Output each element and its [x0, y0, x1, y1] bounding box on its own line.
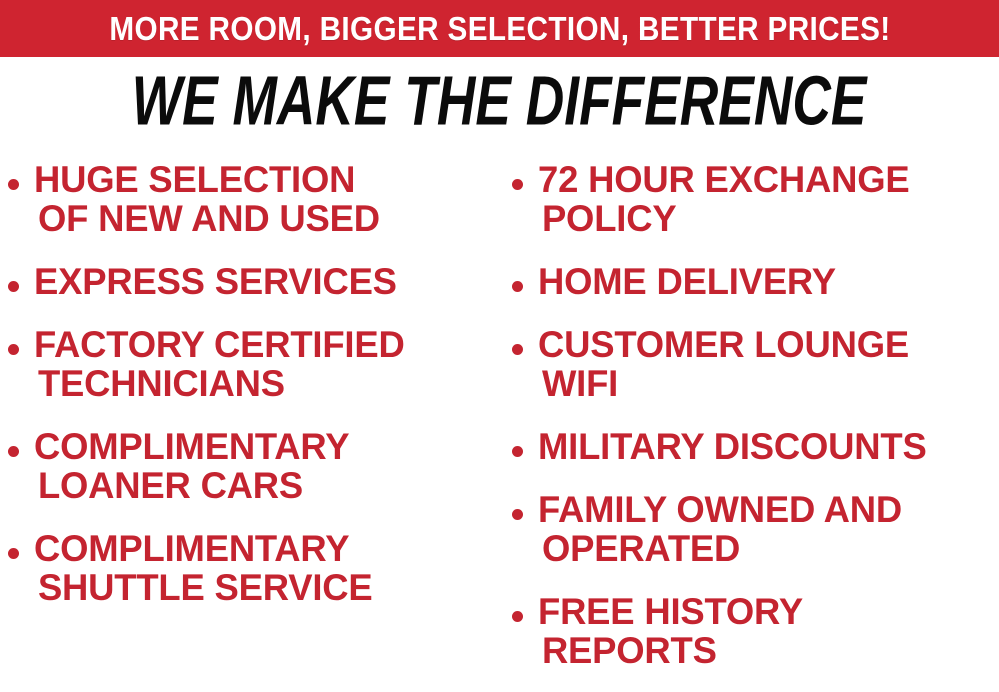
benefit-list-item-label: MILITARY DISCOUNTS [538, 427, 992, 466]
benefit-text-line: HOME DELIVERY [538, 262, 992, 301]
benefit-text-line: HUGE SELECTION [34, 160, 493, 199]
benefit-text-line: SHUTTLE SERVICE [34, 568, 493, 607]
benefit-text-line: POLICY [538, 199, 992, 238]
benefits-column-right: 72 HOUR EXCHANGEPOLICYHOME DELIVERYCUSTO… [512, 160, 999, 692]
benefit-text-line: 72 HOUR EXCHANGE [538, 160, 992, 199]
main-headline: WE MAKE THE DIFFERENCE [132, 67, 867, 136]
benefit-list-item: HOME DELIVERY [512, 262, 999, 301]
benefits-columns: HUGE SELECTIONOF NEW AND USEDEXPRESS SER… [0, 160, 999, 692]
bullet-dot-icon [8, 344, 19, 355]
benefit-list-item-label: 72 HOUR EXCHANGEPOLICY [538, 160, 992, 238]
ribbon-banner: MORE ROOM, BIGGER SELECTION, BETTER PRIC… [0, 0, 999, 57]
promo-banner: MORE ROOM, BIGGER SELECTION, BETTER PRIC… [0, 0, 999, 692]
benefit-text-line: REPORTS [538, 631, 992, 670]
benefit-list-item: MILITARY DISCOUNTS [512, 427, 999, 466]
benefit-list-item-label: COMPLIMENTARYLOANER CARS [34, 427, 493, 505]
benefit-list-item: CUSTOMER LOUNGEWIFI [512, 325, 999, 403]
bullet-dot-icon [8, 548, 19, 559]
bullet-dot-icon [8, 179, 19, 190]
bullet-dot-icon [512, 509, 523, 520]
benefit-list-item: FACTORY CERTIFIEDTECHNICIANS [8, 325, 500, 403]
benefit-list-item: HUGE SELECTIONOF NEW AND USED [8, 160, 500, 238]
benefit-list-item-label: FACTORY CERTIFIEDTECHNICIANS [34, 325, 493, 403]
benefit-text-line: COMPLIMENTARY [34, 529, 493, 568]
benefit-text-line: TECHNICIANS [34, 364, 493, 403]
benefit-text-line: FACTORY CERTIFIED [34, 325, 493, 364]
benefit-list-item-label: EXPRESS SERVICES [34, 262, 493, 301]
benefit-list-item: FAMILY OWNED ANDOPERATED [512, 490, 999, 568]
benefits-column-left: HUGE SELECTIONOF NEW AND USEDEXPRESS SER… [8, 160, 500, 631]
benefit-text-line: COMPLIMENTARY [34, 427, 493, 466]
benefit-text-line: EXPRESS SERVICES [34, 262, 493, 301]
benefit-list-item: 72 HOUR EXCHANGEPOLICY [512, 160, 999, 238]
benefit-list-item-label: CUSTOMER LOUNGEWIFI [538, 325, 992, 403]
benefit-list-item: FREE HISTORYREPORTS [512, 592, 999, 670]
benefit-text-line: OF NEW AND USED [34, 199, 493, 238]
bullet-dot-icon [8, 281, 19, 292]
benefit-list-item-label: HOME DELIVERY [538, 262, 992, 301]
benefit-text-line: LOANER CARS [34, 466, 493, 505]
ribbon-headline-text: MORE ROOM, BIGGER SELECTION, BETTER PRIC… [109, 12, 890, 45]
bullet-dot-icon [512, 281, 523, 292]
benefit-list-item-label: FAMILY OWNED ANDOPERATED [538, 490, 992, 568]
benefit-text-line: MILITARY DISCOUNTS [538, 427, 992, 466]
benefit-text-line: FREE HISTORY [538, 592, 992, 631]
bullet-dot-icon [512, 344, 523, 355]
benefit-text-line: OPERATED [538, 529, 992, 568]
bullet-dot-icon [512, 611, 523, 622]
benefit-list-item-label: FREE HISTORYREPORTS [538, 592, 992, 670]
benefit-list-item-label: HUGE SELECTIONOF NEW AND USED [34, 160, 493, 238]
bullet-dot-icon [512, 179, 523, 190]
bullet-dot-icon [8, 446, 19, 457]
benefit-list-item-label: COMPLIMENTARYSHUTTLE SERVICE [34, 529, 493, 607]
benefit-list-item: EXPRESS SERVICES [8, 262, 500, 301]
bullet-dot-icon [512, 446, 523, 457]
benefit-text-line: FAMILY OWNED AND [538, 490, 992, 529]
benefit-text-line: WIFI [538, 364, 992, 403]
benefit-text-line: CUSTOMER LOUNGE [538, 325, 992, 364]
benefit-list-item: COMPLIMENTARYSHUTTLE SERVICE [8, 529, 500, 607]
headline-container: WE MAKE THE DIFFERENCE [0, 62, 999, 142]
benefit-list-item: COMPLIMENTARYLOANER CARS [8, 427, 500, 505]
